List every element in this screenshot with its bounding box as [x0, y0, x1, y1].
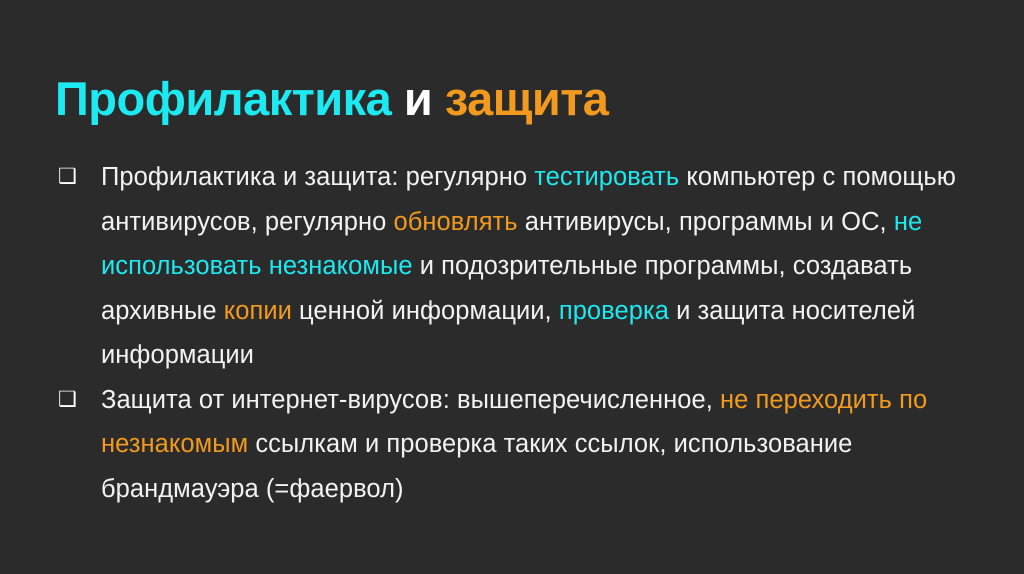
bullet-list: ❑ Профилактика и защита: регулярно тести… — [56, 155, 986, 511]
list-item-text: Защита от интернет-вирусов: вышеперечисл… — [101, 378, 986, 512]
square-bullet-icon: ❑ — [58, 378, 84, 423]
list-item: ❑ Защита от интернет-вирусов: вышеперечи… — [56, 378, 986, 512]
text-segment: Защита от интернет-вирусов: вышеперечисл… — [101, 386, 720, 414]
page-title-part-3: защита — [445, 72, 609, 125]
page-title: Профилактика и защита — [55, 73, 608, 125]
page-title-part-1: Профилактика — [55, 72, 404, 125]
highlight-obnovlyat: обновлять — [394, 208, 518, 236]
list-item: ❑ Профилактика и защита: регулярно тести… — [56, 155, 986, 378]
square-bullet-icon: ❑ — [58, 155, 84, 200]
page-title-part-2: и — [404, 72, 445, 125]
highlight-kopii: копии — [224, 297, 292, 325]
text-segment: антивирусы, программы и ОС, — [518, 208, 894, 236]
presentation-slide: Профилактика и защита ❑ Профилактика и з… — [0, 0, 1024, 574]
text-segment: ценной информации, — [292, 297, 559, 325]
text-segment: Профилактика и защита: регулярно — [101, 163, 534, 191]
highlight-proverka: проверка — [559, 297, 669, 325]
list-item-text: Профилактика и защита: регулярно тестиро… — [101, 155, 986, 378]
highlight-testirovat: тестировать — [534, 163, 679, 191]
